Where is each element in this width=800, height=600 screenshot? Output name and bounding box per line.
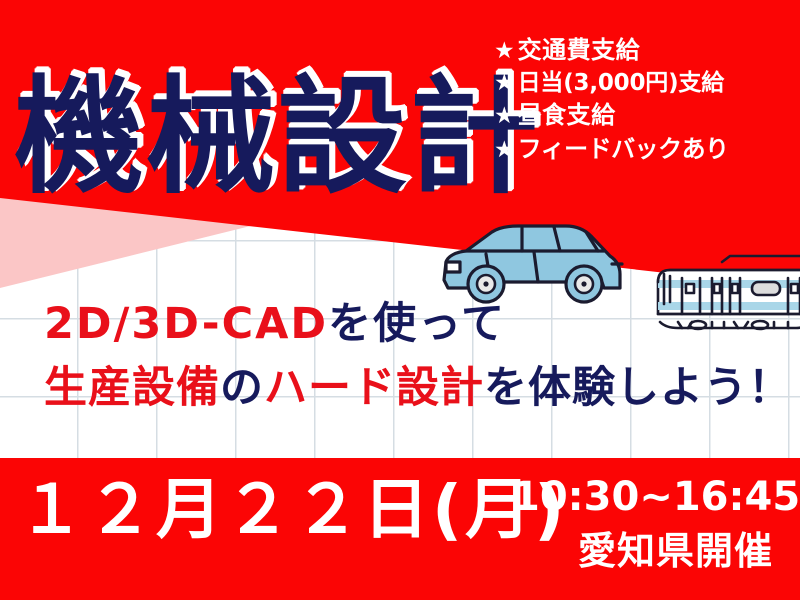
message-seg-sekkei: 設計 [396,363,484,413]
message-line-1: 2D/3D-CADを使って [44,296,792,354]
message-seg-no: の [220,363,264,413]
star-icon: ★ [494,139,515,162]
benefit-label: 日当(3,000円)支給 [518,69,724,97]
event-place: 愛知県開催 [578,532,773,570]
message-seg-taiken: を体験しよう！ [484,363,792,413]
message-line-2: 生産設備のハード設計を体験しよう！ [44,360,792,418]
message-block: 2D/3D-CADを使って 生産設備のハード設計を体験しよう！ [44,296,792,417]
benefit-label: フィードバックあり [518,135,729,164]
list-item: ★ 交通費支給 [494,36,729,65]
poster-canvas: 機械設計 ★ 交通費支給 ★ 日当(3,000円)支給 ★ 昼食支給 ★ フィー… [0,0,800,600]
message-seg-tsukatte: を使って [328,299,506,349]
benefit-label: 交通費支給 [518,36,641,65]
star-icon: ★ [494,40,515,63]
list-item: ★ フィードバックあり [494,135,729,164]
star-icon: ★ [494,105,515,128]
list-item: ★ 日当(3,000円)支給 [494,69,729,97]
list-item: ★ 昼食支給 [494,101,729,130]
benefits-list: ★ 交通費支給 ★ 日当(3,000円)支給 ★ 昼食支給 ★ フィードバックあ… [494,36,729,168]
star-icon: ★ [494,72,515,95]
page-title: 機械設計 [14,74,540,201]
message-seg-seisan: 生産設備 [44,363,220,413]
message-seg-hard: ハード [264,363,396,413]
benefit-label: 昼食支給 [518,101,616,130]
message-seg-cad: 2D/3D-CAD [44,299,328,349]
event-time: 10:30~16:45 [512,477,800,517]
event-date: １２月２２日(月) [18,477,567,543]
